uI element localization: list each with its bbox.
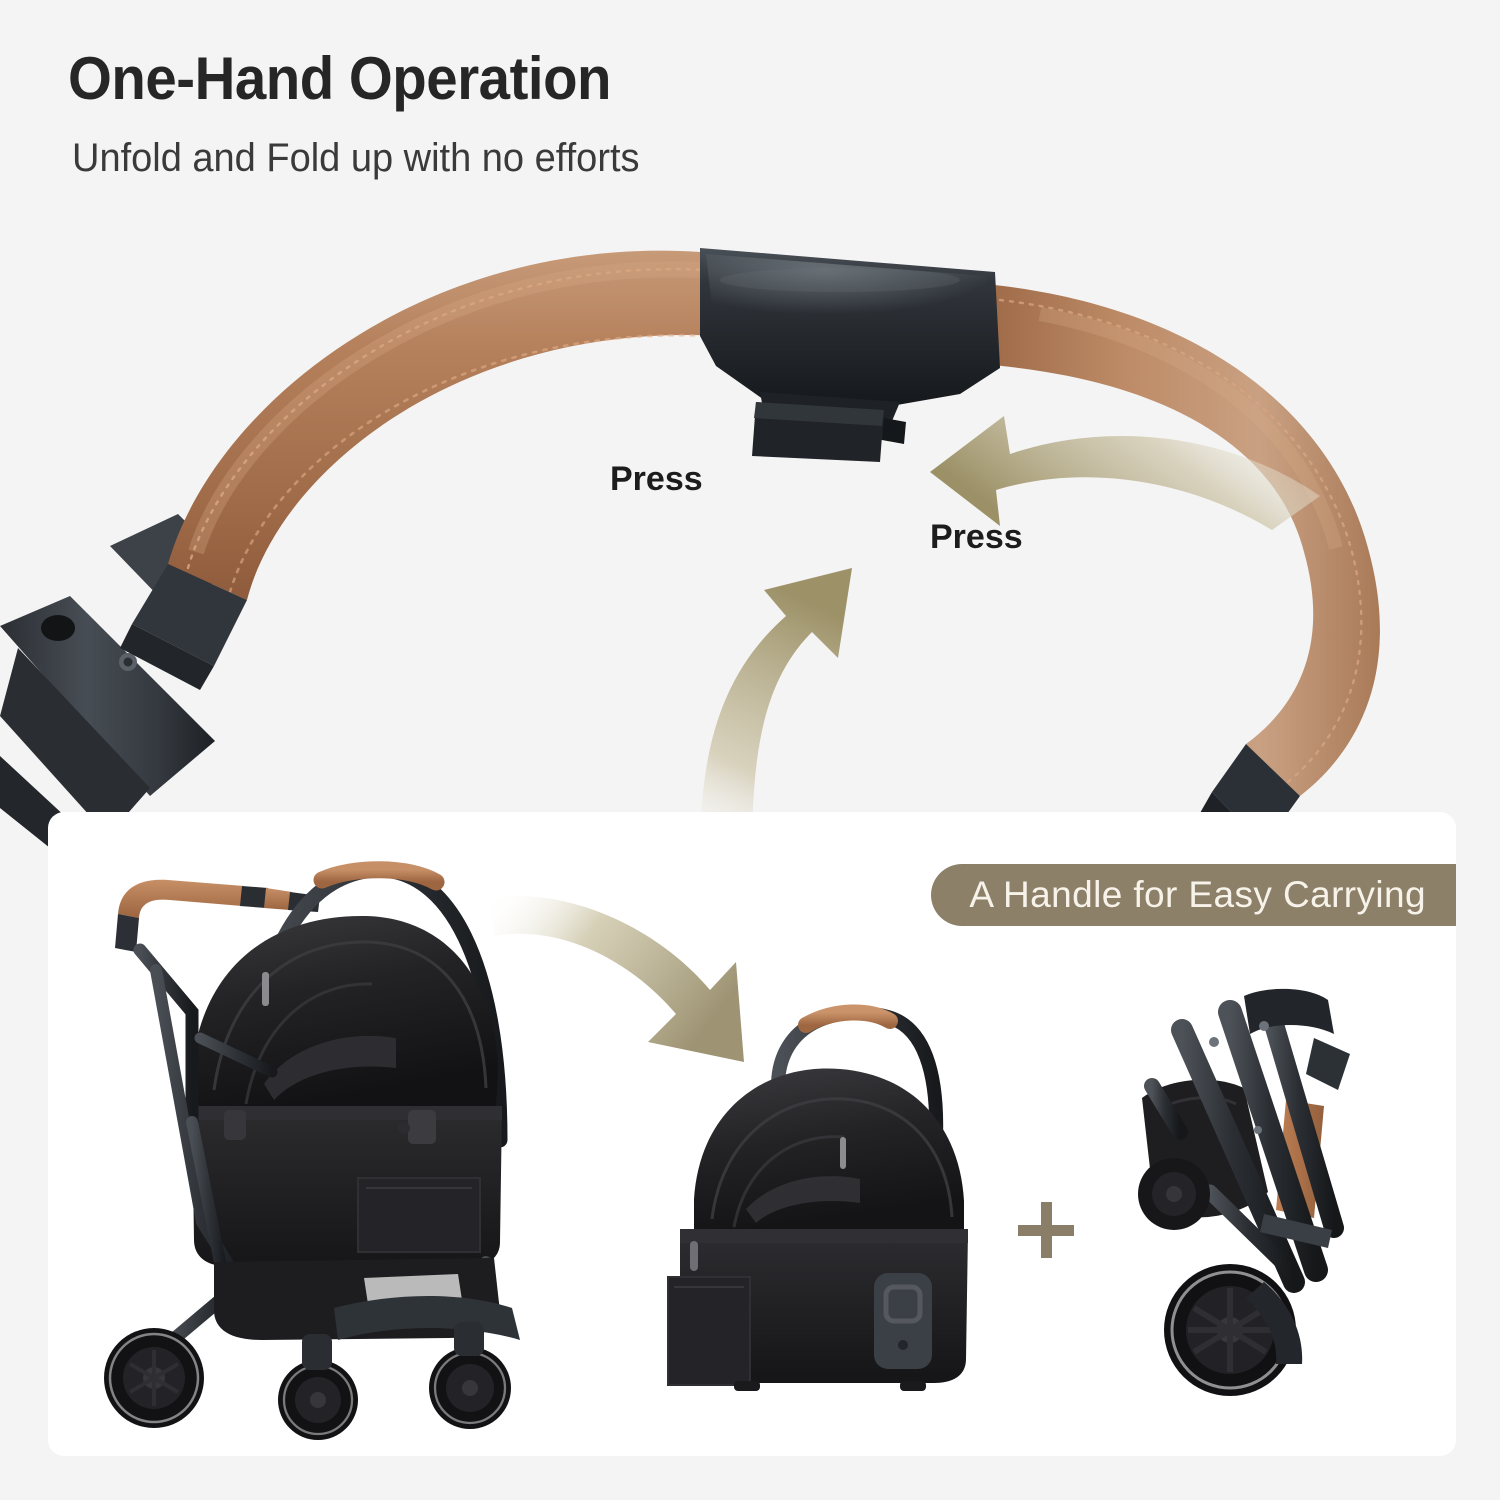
product-image-folded-frame xyxy=(1118,982,1418,1412)
wheel-front-center xyxy=(278,1334,358,1440)
status-badge-handle-carrying: A Handle for Easy Carrying xyxy=(931,864,1456,926)
page-subtitle: Unfold and Fold up with no efforts xyxy=(72,136,640,181)
folded-handle-block xyxy=(1244,989,1334,1034)
bassinet-body xyxy=(192,1106,502,1266)
plus-icon xyxy=(1018,1202,1074,1258)
carrycot-canopy xyxy=(694,1068,964,1229)
latch-buckle xyxy=(874,1273,932,1369)
page-title: One-Hand Operation xyxy=(68,44,611,113)
feature-card: A Handle for Easy Carrying xyxy=(48,812,1456,1456)
product-feature-page: One-Hand Operation Unfold and Fold up wi… xyxy=(0,0,1500,1500)
wheel-rear-left xyxy=(104,1328,204,1428)
press-label-right: Press xyxy=(930,518,1023,557)
product-image-carrycot xyxy=(638,987,1008,1407)
press-label-left: Press xyxy=(610,460,703,499)
hero-image-handlebar xyxy=(0,196,1500,856)
folded-wheel-small xyxy=(1138,1158,1210,1230)
banner-label: A Handle for Easy Carrying xyxy=(969,874,1426,916)
bassinet-canopy xyxy=(192,916,498,1108)
carrycot-body xyxy=(668,1229,968,1391)
